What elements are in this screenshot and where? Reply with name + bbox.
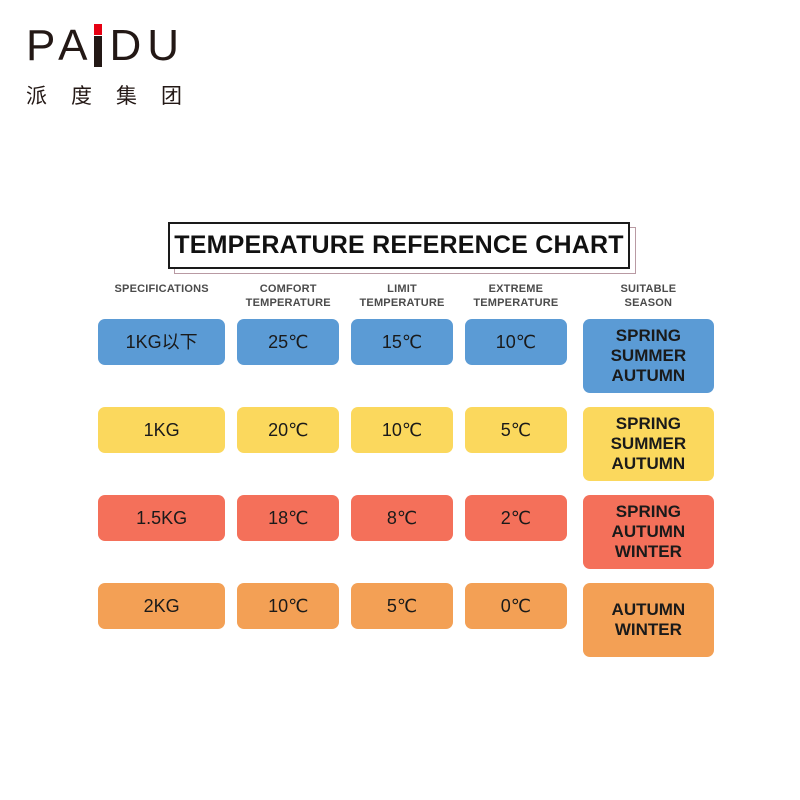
season-line: SPRING bbox=[616, 326, 681, 346]
column-header-line1: LIMIT bbox=[351, 283, 453, 297]
season-line: WINTER bbox=[615, 620, 682, 640]
cell-suitable-season: SPRINGSUMMERAUTUMN bbox=[583, 319, 714, 393]
column-header-extreme-temperature: EXTREME TEMPERATURE bbox=[465, 283, 567, 311]
column-header-specifications: SPECIFICATIONS bbox=[98, 283, 225, 297]
season-line: AUTUMN bbox=[612, 522, 686, 542]
cell-extreme-temperature: 10℃ bbox=[465, 319, 567, 365]
cell-extreme-temperature: 0℃ bbox=[465, 583, 567, 629]
cell-limit-temperature: 15℃ bbox=[351, 319, 453, 365]
season-line: AUTUMN bbox=[612, 366, 686, 386]
title-banner-frame: TEMPERATURE REFERENCE CHART bbox=[168, 222, 630, 269]
season-line: SPRING bbox=[616, 502, 681, 522]
temperature-reference-table: SPECIFICATIONS COMFORT TEMPERATURE LIMIT… bbox=[98, 283, 714, 671]
wordmark-suffix: DU bbox=[109, 24, 185, 68]
column-header-line1: SUITABLE bbox=[583, 283, 714, 297]
season-line: SPRING bbox=[616, 414, 681, 434]
table-row: 1KG以下 25℃ 15℃ 10℃ SPRINGSUMMERAUTUMN bbox=[98, 319, 714, 393]
season-line: SUMMER bbox=[611, 346, 687, 366]
cell-suitable-season: SPRINGSUMMERAUTUMN bbox=[583, 407, 714, 481]
column-header-limit-temperature: LIMIT TEMPERATURE bbox=[351, 283, 453, 311]
column-header-line1: COMFORT bbox=[237, 283, 339, 297]
brand-subtitle: 派度集团 bbox=[26, 80, 326, 110]
cell-comfort-temperature: 18℃ bbox=[237, 495, 339, 541]
cell-specification: 1KG bbox=[98, 407, 225, 453]
wordmark-i-letter-with-red-dot bbox=[94, 24, 103, 68]
red-dot-icon bbox=[94, 24, 102, 35]
wordmark-prefix: PA bbox=[26, 24, 93, 68]
cell-comfort-temperature: 25℃ bbox=[237, 319, 339, 365]
season-line: WINTER bbox=[615, 542, 682, 562]
column-header-line1: EXTREME bbox=[465, 283, 567, 297]
cell-limit-temperature: 8℃ bbox=[351, 495, 453, 541]
cell-extreme-temperature: 5℃ bbox=[465, 407, 567, 453]
table-row: 1.5KG 18℃ 8℃ 2℃ SPRINGAUTUMNWINTER bbox=[98, 495, 714, 569]
cell-limit-temperature: 10℃ bbox=[351, 407, 453, 453]
cell-comfort-temperature: 20℃ bbox=[237, 407, 339, 453]
table-row: 1KG 20℃ 10℃ 5℃ SPRINGSUMMERAUTUMN bbox=[98, 407, 714, 481]
column-header-line2: TEMPERATURE bbox=[237, 297, 339, 311]
cell-specification: 1KG以下 bbox=[98, 319, 225, 365]
season-line: AUTUMN bbox=[612, 454, 686, 474]
season-line: AUTUMN bbox=[612, 600, 686, 620]
column-header-line2: SEASON bbox=[583, 297, 714, 311]
column-header-suitable-season: SUITABLE SEASON bbox=[583, 283, 714, 311]
cell-suitable-season: AUTUMNWINTER bbox=[583, 583, 714, 657]
i-stem bbox=[94, 36, 102, 67]
cell-extreme-temperature: 2℃ bbox=[465, 495, 567, 541]
table-row: 2KG 10℃ 5℃ 0℃ AUTUMNWINTER bbox=[98, 583, 714, 657]
brand-logo: PA DU 派度集团 bbox=[26, 22, 326, 110]
cell-limit-temperature: 5℃ bbox=[351, 583, 453, 629]
column-header-line2: TEMPERATURE bbox=[351, 297, 453, 311]
cell-specification: 2KG bbox=[98, 583, 225, 629]
cell-comfort-temperature: 10℃ bbox=[237, 583, 339, 629]
column-header-line2: TEMPERATURE bbox=[465, 297, 567, 311]
title-banner: TEMPERATURE REFERENCE CHART bbox=[168, 222, 630, 270]
cell-specification: 1.5KG bbox=[98, 495, 225, 541]
table-header-row: SPECIFICATIONS COMFORT TEMPERATURE LIMIT… bbox=[98, 283, 714, 319]
page-title: TEMPERATURE REFERENCE CHART bbox=[174, 231, 623, 260]
cell-suitable-season: SPRINGAUTUMNWINTER bbox=[583, 495, 714, 569]
brand-wordmark: PA DU bbox=[26, 22, 326, 68]
column-header-comfort-temperature: COMFORT TEMPERATURE bbox=[237, 283, 339, 311]
season-line: SUMMER bbox=[611, 434, 687, 454]
column-header-line1: SPECIFICATIONS bbox=[98, 283, 225, 297]
